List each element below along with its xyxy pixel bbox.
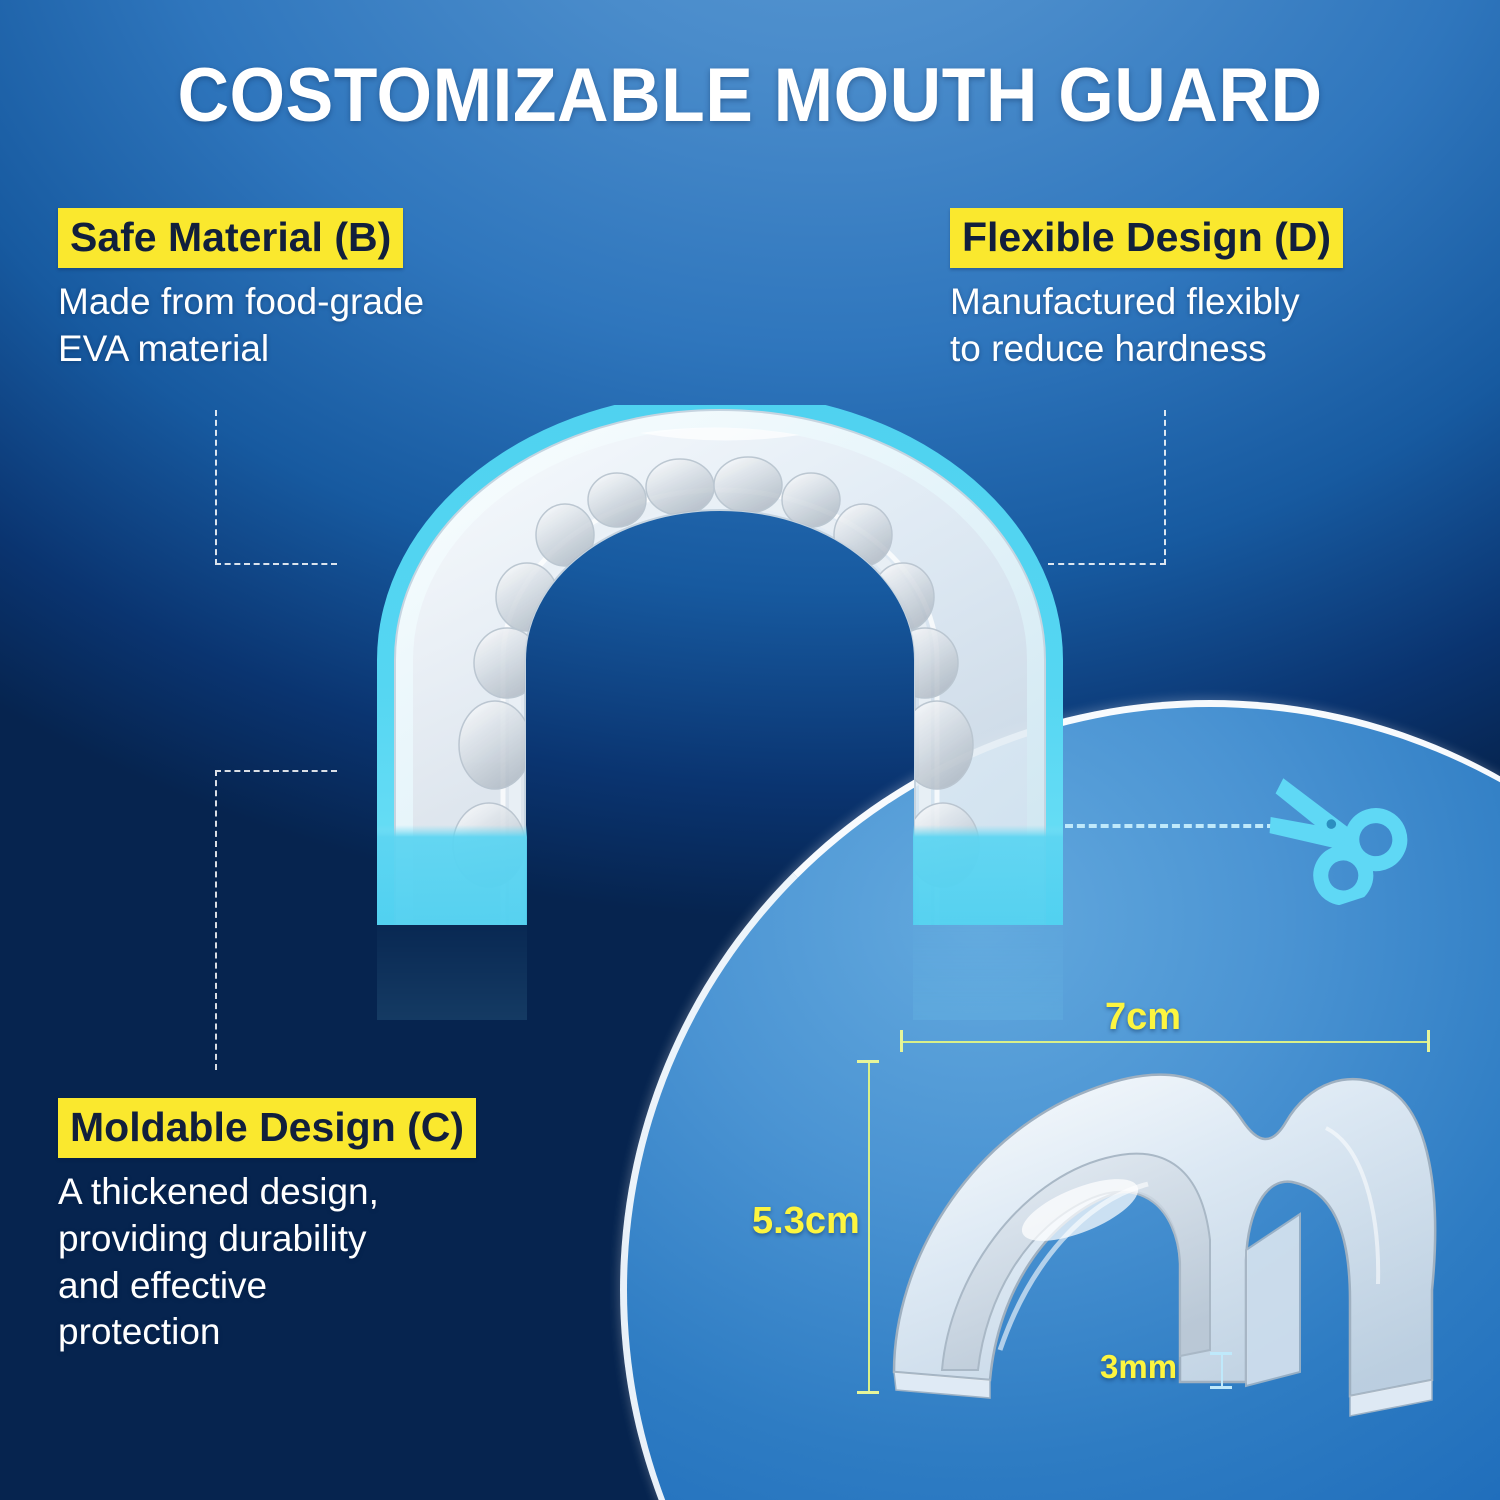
feature-heading-flexible-design: Flexible Design (D) bbox=[950, 208, 1343, 268]
dimension-label-width: 7cm bbox=[1105, 996, 1181, 1039]
guard-trim-zone-right bbox=[913, 825, 1063, 925]
feature-body-safe-material: Made from food-grade EVA material bbox=[58, 279, 424, 372]
leader-line-moldable-design bbox=[215, 770, 337, 1070]
page-title: COSTOMIZABLE MOUTH GUARD bbox=[45, 58, 1455, 134]
feature-flexible-design: Flexible Design (D) Manufactured flexibl… bbox=[950, 208, 1343, 373]
dimension-label-height: 5.3cm bbox=[752, 1200, 860, 1243]
feature-moldable-design: Moldable Design (C) A thickened design, … bbox=[58, 1098, 476, 1356]
dimension-label-thickness: 3mm bbox=[1100, 1348, 1177, 1386]
feature-safe-material: Safe Material (B) Made from food-grade E… bbox=[58, 208, 424, 373]
guard-trim-zone-left bbox=[377, 825, 527, 925]
feature-body-moldable-design: A thickened design, providing durability… bbox=[58, 1169, 476, 1355]
small-guard-divider bbox=[1246, 1214, 1300, 1386]
dashed-cut-line bbox=[1065, 824, 1275, 828]
dimension-cap-height-top bbox=[857, 1060, 879, 1063]
dimension-line-height bbox=[868, 1060, 870, 1391]
dimension-cap-width-left bbox=[900, 1030, 903, 1052]
dimension-line-width bbox=[900, 1041, 1427, 1043]
dimension-line-thickness bbox=[1221, 1352, 1223, 1386]
infographic-canvas: COSTOMIZABLE MOUTH GUARD bbox=[0, 0, 1500, 1500]
dimension-cap-width-right bbox=[1427, 1030, 1430, 1052]
dimension-cap-height-bottom bbox=[857, 1391, 879, 1394]
feature-heading-safe-material: Safe Material (B) bbox=[58, 208, 403, 268]
feature-body-flexible-design: Manufactured flexibly to reduce hardness bbox=[950, 279, 1343, 372]
guard-inner-ridge bbox=[515, 500, 925, 925]
feature-heading-moldable-design: Moldable Design (C) bbox=[58, 1098, 476, 1158]
dimension-cap-thickness-top bbox=[1210, 1352, 1232, 1355]
leader-line-safe-material bbox=[215, 410, 337, 565]
dimension-cap-thickness-bottom bbox=[1210, 1386, 1232, 1389]
mouth-guard-top-view bbox=[355, 405, 1085, 925]
